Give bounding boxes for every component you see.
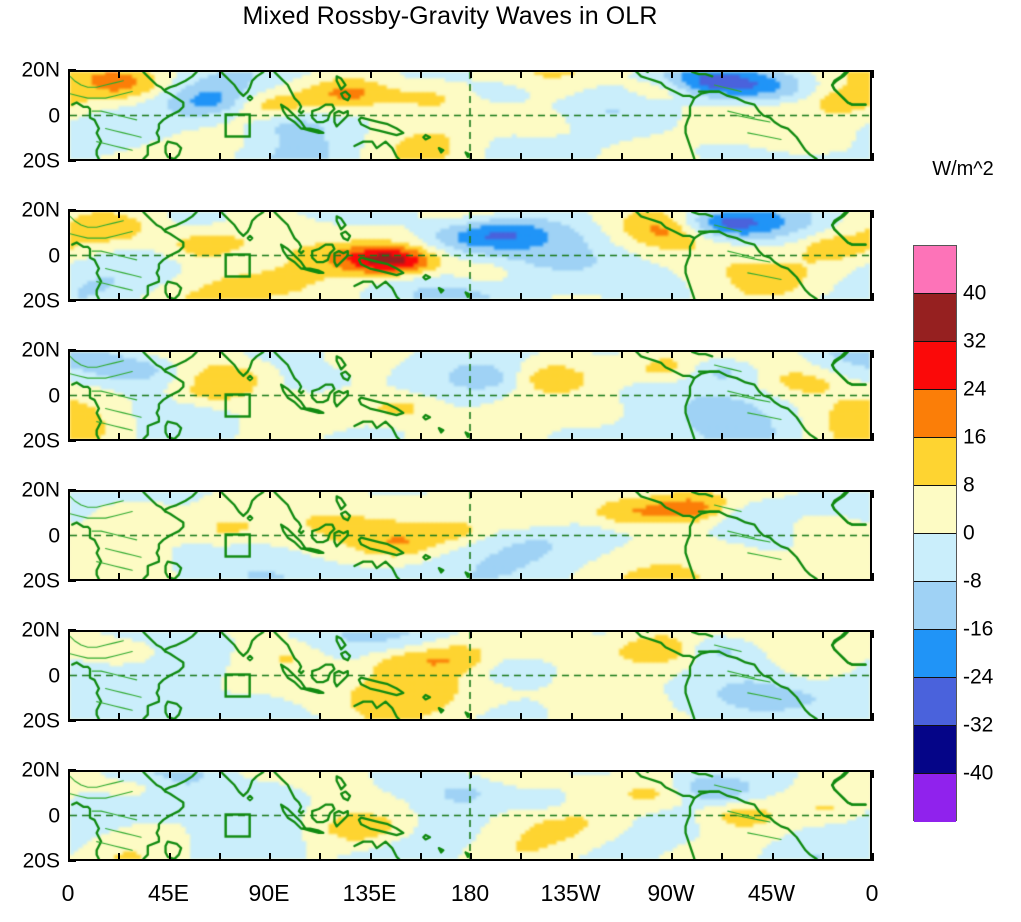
x-axis-tick [68,153,70,161]
x-axis-tick [621,210,623,218]
colorbar-units-label: W/m^2 [905,158,1021,181]
x-axis-tick [370,490,372,498]
x-axis-tick-label: 180 [451,880,489,906]
x-axis-tick [872,770,874,778]
y-axis-tick-label: 0 [48,525,60,546]
x-axis-tick [370,153,372,161]
x-axis-tick [319,293,321,301]
x-axis-tick [520,573,522,581]
x-axis-tick [772,433,774,441]
x-axis-tick [671,490,673,498]
x-axis-tick [420,490,422,498]
x-axis-tick [872,153,874,161]
x-axis-tick [721,70,723,78]
colorbar-tick-label: -16 [963,619,993,640]
x-axis-tick [219,713,221,721]
colorbar-tick-label: 24 [963,379,986,400]
colorbar-tick-label: 0 [963,523,975,544]
x-axis-tick [219,293,221,301]
x-axis-tick [621,573,623,581]
x-axis-tick [772,210,774,218]
x-axis-tick [169,770,171,778]
x-axis-tick [671,70,673,78]
x-axis-tick [822,713,824,721]
x-axis-tick [68,630,70,638]
y-axis: 20N020S [0,70,64,161]
x-axis-tick [169,153,171,161]
x-axis-tick [721,573,723,581]
y-axis-tick-label: 0 [48,805,60,826]
x-axis-tick-label: 135E [343,880,397,906]
x-axis-tick [872,573,874,581]
x-axis-tick [470,350,472,358]
x-axis-tick [420,433,422,441]
x-axis-tick [269,770,271,778]
x-axis-tick [370,770,372,778]
x-axis-tick [671,433,673,441]
map-field [70,632,870,719]
x-axis-tick [772,853,774,861]
colorbar-tick-label: 8 [963,475,975,496]
x-axis-tick [68,70,70,78]
x-axis-tick [470,853,472,861]
x-axis-tick [118,713,120,721]
y-axis: 20N020S [0,490,64,581]
x-axis-tick [319,713,321,721]
x-axis-tick [772,770,774,778]
y-axis-tick-label: 20S [23,711,60,732]
map-panel: 20N020S [0,740,900,880]
x-axis-tick [269,350,271,358]
x-axis-tick [370,210,372,218]
x-axis-tick [269,70,271,78]
colorbar-tick-label: -40 [963,763,993,784]
x-axis-tick [169,210,171,218]
x-axis-tick [169,490,171,498]
x-axis-tick [219,70,221,78]
x-axis-tick [721,630,723,638]
colorbar-band [914,390,956,438]
x-axis-tick-label: 90W [647,880,694,906]
x-axis: 045E90E135E180135W90W45W0 [0,880,900,920]
x-axis-tick [118,770,120,778]
x-axis-tick [370,573,372,581]
x-axis-tick [319,490,321,498]
x-axis-tick [118,293,120,301]
x-axis-tick [319,350,321,358]
colorbar-tick-label: -8 [963,571,982,592]
y-axis: 20N020S [0,350,64,441]
x-axis-tick-label: 45W [748,880,795,906]
x-axis-tick [872,490,874,498]
y-axis-tick-label: 20N [21,480,60,501]
x-axis-tick [370,853,372,861]
x-axis-tick [671,770,673,778]
x-axis-tick [872,293,874,301]
x-axis-tick [721,350,723,358]
x-axis-tick [571,153,573,161]
x-axis-tick [822,70,824,78]
x-axis-tick [470,153,472,161]
x-axis-tick [370,350,372,358]
map-panel: 20N020S [0,320,900,460]
x-axis-tick [118,573,120,581]
x-axis-tick [571,490,573,498]
x-axis-tick [671,573,673,581]
y-axis: 20N020S [0,770,64,861]
x-axis-tick [571,713,573,721]
x-axis-tick [319,210,321,218]
x-axis-tick [872,350,874,358]
x-axis-tick [721,293,723,301]
x-axis-tick [822,293,824,301]
x-axis-tick [671,210,673,218]
x-axis-tick-label: 0 [62,880,75,906]
colorbar-band [914,726,956,774]
x-axis-tick [621,770,623,778]
x-axis-tick [68,573,70,581]
map-frame [68,350,872,441]
y-axis-tick-label: 20N [21,620,60,641]
x-axis-tick [621,350,623,358]
x-axis-tick [671,293,673,301]
y-axis-tick-label: 20N [21,60,60,81]
x-axis-tick [219,153,221,161]
x-axis-tick [169,713,171,721]
x-axis-tick [420,713,422,721]
x-axis-tick [520,853,522,861]
x-axis-tick [420,350,422,358]
x-axis-tick [219,350,221,358]
x-axis-tick [219,630,221,638]
x-axis-tick [269,630,271,638]
x-axis-tick [520,713,522,721]
x-axis-tick [571,853,573,861]
colorbar-ticks: 4032241680-8-16-24-32-40 [963,245,1021,821]
y-axis-tick-label: 0 [48,245,60,266]
colorbar-band [914,534,956,582]
map-panel: 20N020S [0,460,900,600]
x-axis-tick [671,153,673,161]
x-axis-tick [571,210,573,218]
x-axis-tick [520,293,522,301]
x-axis-tick-label: 0 [866,880,879,906]
x-axis-tick [269,713,271,721]
x-axis-tick [621,70,623,78]
x-axis-tick [872,210,874,218]
y-axis-tick-label: 20S [23,431,60,452]
x-axis-tick [772,153,774,161]
x-axis-tick [520,153,522,161]
x-axis-tick [219,490,221,498]
colorbar-tick-label: 40 [963,283,986,304]
x-axis-tick [118,70,120,78]
x-axis-tick [169,293,171,301]
x-axis-tick [872,70,874,78]
y-axis-tick-label: 20N [21,200,60,221]
map-panel: 20N020S [0,40,900,180]
colorbar-tick-label: -32 [963,715,993,736]
x-axis-tick [571,293,573,301]
x-axis-tick [520,350,522,358]
x-axis-tick [721,153,723,161]
colorbar [913,245,957,821]
x-axis-tick-label: 90E [249,880,290,906]
x-axis-tick [772,630,774,638]
x-axis-tick [269,573,271,581]
map-field [70,212,870,299]
x-axis-tick [420,573,422,581]
x-axis-tick [118,210,120,218]
x-axis-tick [169,573,171,581]
x-axis-tick [370,433,372,441]
x-axis-tick [319,153,321,161]
x-axis-tick [68,490,70,498]
map-panel: 20N020S [0,180,900,320]
x-axis-tick [169,433,171,441]
y-axis-tick-label: 20S [23,851,60,872]
x-axis-tick [822,490,824,498]
x-axis-tick [219,770,221,778]
map-frame [68,70,872,161]
colorbar-band [914,630,956,678]
x-axis-tick [520,70,522,78]
colorbar-band [914,774,956,822]
x-axis-tick [571,630,573,638]
x-axis-tick [118,490,120,498]
x-axis-tick [269,153,271,161]
x-axis-tick [621,490,623,498]
x-axis-tick [420,210,422,218]
x-axis-tick [420,293,422,301]
x-axis-tick [671,630,673,638]
x-axis-tick [420,70,422,78]
colorbar-band [914,438,956,486]
x-axis-tick [571,70,573,78]
x-axis-tick [319,573,321,581]
map-field [70,72,870,159]
x-axis-tick [772,293,774,301]
map-frame [68,630,872,721]
x-axis-tick [269,210,271,218]
colorbar-band [914,342,956,390]
x-axis-tick [872,630,874,638]
x-axis-tick [721,490,723,498]
x-axis-tick [772,573,774,581]
x-axis-tick [520,490,522,498]
y-axis: 20N020S [0,210,64,301]
x-axis-tick [772,350,774,358]
x-axis-tick [118,153,120,161]
x-axis-tick [219,210,221,218]
x-axis-tick [721,210,723,218]
x-axis-tick-label: 135W [540,880,600,906]
colorbar-band [914,678,956,726]
x-axis-tick [822,630,824,638]
x-axis-tick [721,770,723,778]
x-axis-tick [68,853,70,861]
x-axis-tick [68,293,70,301]
x-axis-tick [269,853,271,861]
x-axis-tick [118,630,120,638]
x-axis-tick [420,853,422,861]
x-axis-tick [822,853,824,861]
x-axis-tick [872,713,874,721]
y-axis-tick-label: 20S [23,571,60,592]
x-axis-tick [470,210,472,218]
x-axis-tick [169,350,171,358]
x-axis-tick [721,853,723,861]
x-axis-tick [68,350,70,358]
x-axis-tick [822,573,824,581]
x-axis-tick [219,853,221,861]
x-axis-tick [420,770,422,778]
x-axis-tick [420,630,422,638]
y-axis-tick-label: 20N [21,340,60,361]
x-axis-tick [772,490,774,498]
x-axis-tick [269,490,271,498]
x-axis-tick [470,630,472,638]
x-axis-tick [370,713,372,721]
x-axis-tick [520,630,522,638]
colorbar-band [914,246,956,294]
x-axis-tick [520,433,522,441]
x-axis-tick [470,293,472,301]
x-axis-tick [470,70,472,78]
x-axis-tick [319,770,321,778]
x-axis-tick [571,573,573,581]
x-axis-tick [219,433,221,441]
x-axis-tick [671,350,673,358]
x-axis-tick [822,210,824,218]
x-axis-tick [118,433,120,441]
x-axis-tick [118,350,120,358]
x-axis-tick [118,853,120,861]
x-axis-tick [370,630,372,638]
x-axis-tick [219,573,221,581]
x-axis-tick [621,713,623,721]
x-axis-tick [621,630,623,638]
x-axis-tick [571,433,573,441]
x-axis-tick [370,70,372,78]
map-panel: 20N020S [0,600,900,740]
map-field [70,352,870,439]
y-axis: 20N020S [0,630,64,721]
x-axis-tick [822,770,824,778]
map-frame [68,490,872,581]
y-axis-tick-label: 0 [48,105,60,126]
y-axis-tick-label: 0 [48,385,60,406]
x-axis-tick [169,630,171,638]
x-axis-tick [772,70,774,78]
x-axis-tick [621,853,623,861]
x-axis-tick [68,713,70,721]
x-axis-tick [68,770,70,778]
x-axis-tick [470,490,472,498]
colorbar-band [914,294,956,342]
y-axis-tick-label: 20S [23,291,60,312]
x-axis-tick [721,713,723,721]
y-axis-tick-label: 20N [21,760,60,781]
x-axis-tick [68,433,70,441]
x-axis-tick [319,853,321,861]
x-axis-tick [319,433,321,441]
x-axis-tick [621,433,623,441]
map-frame [68,770,872,861]
map-field [70,772,870,859]
x-axis-tick [470,713,472,721]
x-axis-tick [470,573,472,581]
colorbar-band [914,582,956,630]
x-axis-tick [319,630,321,638]
map-frame [68,210,872,301]
page-title: Mixed Rossby-Gravity Waves in OLR [0,2,900,31]
x-axis-tick [169,853,171,861]
x-axis-tick [269,433,271,441]
x-axis-tick [872,853,874,861]
x-axis-tick [671,713,673,721]
panel-stack: 20N020S20N020S20N020S20N020S20N020S20N02… [0,40,900,880]
x-axis-tick [822,153,824,161]
x-axis-tick [169,70,171,78]
x-axis-tick [772,713,774,721]
x-axis-tick [520,210,522,218]
x-axis-tick [822,433,824,441]
y-axis-tick-label: 20S [23,151,60,172]
colorbar-tick-label: 32 [963,331,986,352]
colorbar-tick-label: -24 [963,667,993,688]
x-axis-tick [721,433,723,441]
x-axis-tick [470,770,472,778]
x-axis-tick [621,153,623,161]
x-axis-tick [319,70,321,78]
x-axis-tick [571,770,573,778]
x-axis-tick [370,293,372,301]
x-axis-tick [470,433,472,441]
x-axis-tick [68,210,70,218]
colorbar-band [914,486,956,534]
x-axis-tick [872,433,874,441]
x-axis-tick [269,293,271,301]
x-axis-tick [571,350,573,358]
x-axis-tick [520,770,522,778]
x-axis-tick [621,293,623,301]
map-field [70,492,870,579]
x-axis-tick [420,153,422,161]
x-axis-tick-label: 45E [148,880,189,906]
colorbar-tick-label: 16 [963,427,986,448]
x-axis-tick [671,853,673,861]
y-axis-tick-label: 0 [48,665,60,686]
x-axis-tick [822,350,824,358]
